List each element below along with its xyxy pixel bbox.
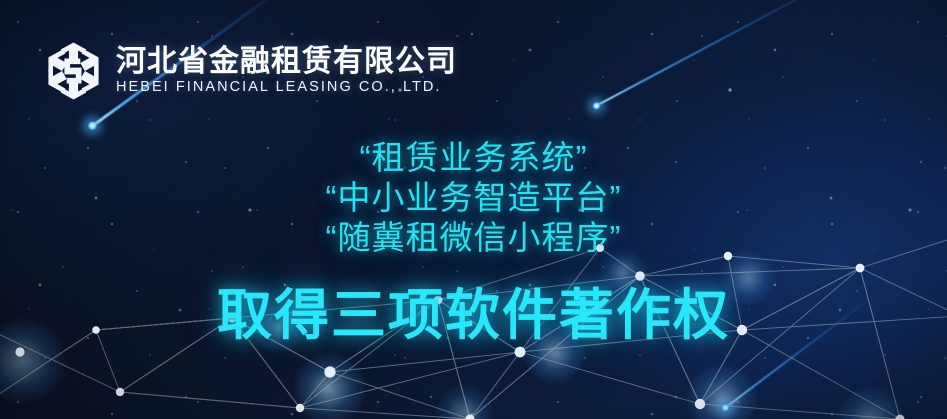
comet-head bbox=[590, 100, 602, 112]
node-glow bbox=[836, 386, 906, 419]
comet-top-right bbox=[596, 0, 861, 106]
system-name-line-3: “随冀租微信小程序” bbox=[0, 218, 947, 258]
comet-head bbox=[85, 118, 100, 133]
company-logo-lockup: 河北省金融租赁有限公司 HEBEI FINANCIAL LEASING CO.,… bbox=[45, 41, 457, 101]
system-names-block: “租赁业务系统” “中小业务智造平台” “随冀租微信小程序” bbox=[0, 138, 947, 258]
company-name-cn: 河北省金融租赁有限公司 bbox=[116, 46, 457, 78]
system-name-line-2: “中小业务智造平台” bbox=[0, 178, 947, 218]
company-name-en: HEBEI FINANCIAL LEASING CO., LTD. bbox=[116, 79, 457, 96]
node-glow bbox=[686, 364, 758, 419]
system-name-line-1: “租赁业务系统” bbox=[0, 138, 947, 178]
logo-text-block: 河北省金融租赁有限公司 HEBEI FINANCIAL LEASING CO.,… bbox=[116, 46, 457, 96]
node-glow bbox=[292, 352, 366, 419]
headline-text: 取得三项软件著作权 bbox=[0, 286, 947, 345]
comet-tail bbox=[595, 0, 861, 107]
node-glow bbox=[436, 384, 494, 419]
hexagon-interlock-logo-icon bbox=[45, 41, 102, 101]
promotional-banner: 河北省金融租赁有限公司 HEBEI FINANCIAL LEASING CO.,… bbox=[0, 0, 947, 419]
comet-head bbox=[719, 401, 732, 414]
